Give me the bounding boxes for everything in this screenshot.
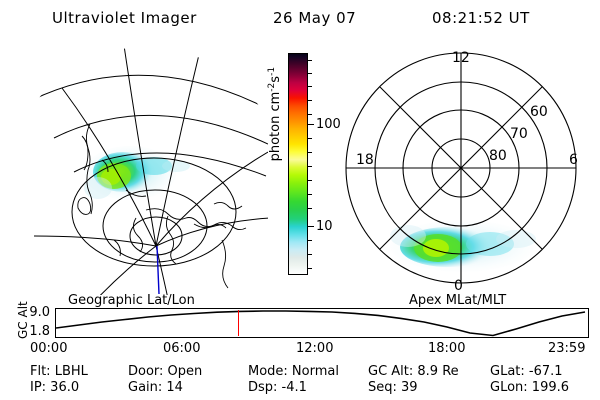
status-ip: IP: 36.0 <box>30 380 79 395</box>
observation-time: 08:21:52 UT <box>432 9 530 27</box>
gc-altitude-timeseries-plot[interactable] <box>55 308 589 338</box>
colorbar-minor-tick <box>308 86 312 87</box>
colorbar-minor-tick <box>308 60 312 61</box>
colorbar-gradient-box <box>288 53 308 275</box>
alt-xtick-2: 12:00 <box>296 341 333 356</box>
apex-mlat-mlt-panel[interactable]: 12 18 6 0 60 70 80 <box>330 40 592 295</box>
current-time-marker <box>238 310 239 336</box>
colorbar-major-tick-10 <box>308 226 314 227</box>
apex-polar-dial-svg: 12 18 6 0 60 70 80 <box>330 40 592 295</box>
observation-date: 26 May 07 <box>273 9 356 27</box>
header-bar: Ultraviolet Imager 26 May 07 08:21:52 UT <box>0 6 600 32</box>
alt-xtick-4: 23:59 <box>548 341 585 356</box>
status-flt: Flt: LBHL <box>30 364 88 379</box>
mlat-label-60: 60 <box>530 104 548 120</box>
status-door: Door: Open <box>128 364 202 379</box>
mlt-label-18: 18 <box>356 152 374 168</box>
colorbar-minor-tick <box>308 208 312 209</box>
status-dsp: Dsp: -4.1 <box>248 380 307 395</box>
mlt-spokes <box>346 53 576 283</box>
status-seq: Seq: 39 <box>368 380 418 395</box>
status-glon: GLon: 199.6 <box>490 380 569 395</box>
colorbar-minor-tick <box>308 180 312 181</box>
mlt-label-6: 6 <box>569 152 578 168</box>
colorbar-major-tick-100 <box>308 124 314 125</box>
page-title: Ultraviolet Imager <box>52 9 197 27</box>
mlt-label-12: 12 <box>452 50 470 66</box>
geographic-panel-caption: Geographic Lat/Lon <box>68 293 195 308</box>
colorbar-minor-tick <box>308 73 312 74</box>
geographic-projection-svg <box>18 40 268 295</box>
status-glat: GLat: -67.1 <box>490 364 563 379</box>
status-gcalt: GC Alt: 8.9 Re <box>368 364 459 379</box>
colorbar-minor-tick <box>308 138 312 139</box>
geographic-image-panel[interactable] <box>18 40 268 295</box>
colorbar-minor-tick <box>308 100 312 101</box>
colorbar: photon cm-2s-1 100 10 <box>265 48 327 293</box>
colorbar-minor-tick <box>308 194 312 195</box>
alt-xtick-3: 18:00 <box>428 341 465 356</box>
nadir-track-marker <box>157 246 159 294</box>
alt-ytick-bottom: 1.8 <box>20 324 50 339</box>
colorbar-axis-label: photon cm-2s-1 <box>267 52 283 176</box>
status-gain: Gain: 14 <box>128 380 183 395</box>
colorbar-gradient <box>289 54 307 274</box>
aurora-emission-apex <box>390 220 536 272</box>
status-panel: Flt: LBHL IP: 36.0 Door: Open Gain: 14 M… <box>0 364 600 398</box>
mlat-label-70: 70 <box>510 126 528 142</box>
alt-ytick-top: 9.0 <box>20 305 50 320</box>
apex-panel-caption: Apex MLat/MLT <box>409 293 506 308</box>
alt-xtick-1: 06:00 <box>163 341 200 356</box>
alt-xtick-0: 00:00 <box>30 341 67 356</box>
gc-altitude-curve-svg <box>56 309 588 337</box>
status-mode: Mode: Normal <box>248 364 339 379</box>
mlat-label-80: 80 <box>489 148 507 164</box>
colorbar-minor-tick <box>308 240 312 241</box>
colorbar-minor-tick <box>308 268 312 269</box>
gc-altitude-line <box>56 311 585 336</box>
colorbar-minor-tick <box>308 152 312 153</box>
mlt-label-0: 0 <box>454 278 463 294</box>
colorbar-minor-tick <box>308 166 312 167</box>
latitude-graticule <box>18 40 268 266</box>
colorbar-minor-tick <box>308 114 312 115</box>
colorbar-minor-tick <box>308 254 312 255</box>
